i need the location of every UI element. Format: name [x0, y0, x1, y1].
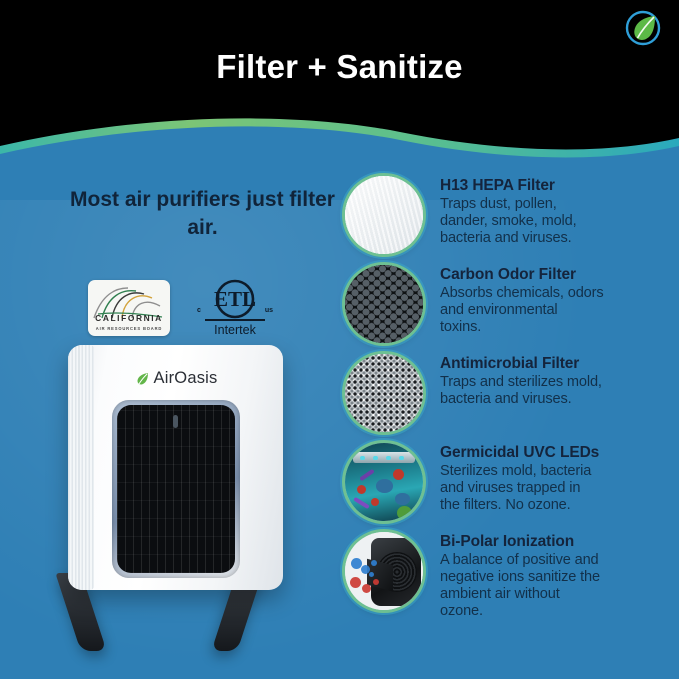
- feature-row: Bi-Polar Ionization A balance of positiv…: [345, 532, 675, 621]
- feature-row: Germicidal UVC LEDs Sterilizes mold, bac…: [345, 443, 675, 521]
- purifier-brand-label: AirOasis: [68, 369, 283, 388]
- page-title: Filter + Sanitize: [0, 48, 679, 86]
- svg-text:ETL: ETL: [214, 287, 256, 311]
- feature-title: Bi-Polar Ionization: [440, 533, 600, 551]
- etl-label: Intertek: [196, 323, 274, 337]
- left-headline: Most air purifiers just filter air.: [60, 186, 345, 241]
- uvc-led-icon: [345, 443, 423, 521]
- feature-row: Carbon Odor Filter Absorbs chemicals, od…: [345, 265, 675, 343]
- feature-row: H13 HEPA Filter Traps dust, pollen, dand…: [345, 176, 675, 254]
- air-oasis-leaf-logo-icon: [621, 6, 665, 50]
- product-infographic: Filter + Sanitize Most air pur: [0, 0, 679, 679]
- hepa-filter-icon: [345, 176, 423, 254]
- bipolar-ionization-icon: [345, 532, 423, 610]
- etl-suffix: us: [265, 307, 273, 314]
- feature-description: Traps dust, pollen, dander, smoke, mold,…: [440, 196, 577, 247]
- purifier-grille: [117, 405, 235, 573]
- purifier-indicator-light: [173, 415, 178, 428]
- feature-row: Antimicrobial Filter Traps and sterilize…: [345, 354, 675, 432]
- feature-list: H13 HEPA Filter Traps dust, pollen, dand…: [345, 176, 675, 632]
- carb-line2: AIR RESOURCES BOARD: [88, 326, 170, 331]
- antimicrobial-filter-icon: [345, 354, 423, 432]
- feature-description: Absorbs chemicals, odors and environment…: [440, 285, 604, 336]
- feature-title: Germicidal UVC LEDs: [440, 444, 599, 462]
- purifier-brand-text: AirOasis: [154, 369, 218, 388]
- carb-badge-icon: CALIFORNIA AIR RESOURCES BOARD: [88, 280, 170, 336]
- etl-prefix: c: [197, 307, 201, 314]
- carb-line1: CALIFORNIA: [88, 313, 170, 323]
- feature-description: Traps and sterilizes mold, bacteria and …: [440, 374, 602, 408]
- etl-intertek-badge-icon: ETL c us Intertek: [196, 279, 274, 337]
- feature-title: Antimicrobial Filter: [440, 355, 602, 373]
- feature-title: H13 HEPA Filter: [440, 177, 577, 195]
- feature-description: Sterilizes mold, bacteria and viruses tr…: [440, 463, 599, 514]
- air-purifier-unit: AirOasis: [50, 345, 305, 655]
- feature-title: Carbon Odor Filter: [440, 266, 604, 284]
- leaf-icon: [134, 371, 150, 387]
- etl-divider: [205, 319, 265, 321]
- certification-badges: CALIFORNIA AIR RESOURCES BOARD ETL c us …: [88, 276, 278, 340]
- carbon-filter-icon: [345, 265, 423, 343]
- feature-description: A balance of positive and negative ions …: [440, 552, 600, 620]
